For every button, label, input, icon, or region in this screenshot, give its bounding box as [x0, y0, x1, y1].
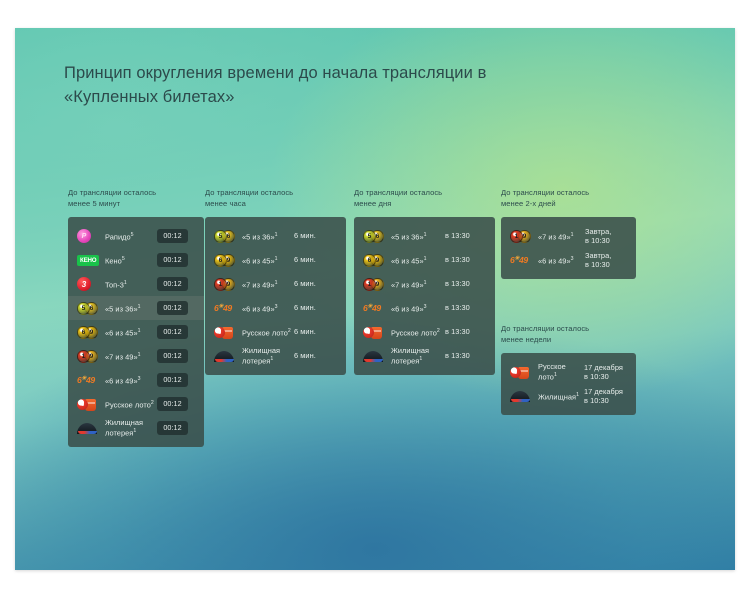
time-value: в 13:30	[445, 303, 486, 313]
footnote-marker: 1	[138, 328, 141, 334]
top3-glyph: 3	[77, 277, 91, 291]
footnote-marker: 1	[275, 232, 278, 238]
table-row[interactable]: Жилищная лотерея1в 13:30	[354, 344, 495, 368]
countdown-badge: 00:12	[157, 421, 188, 436]
table-row[interactable]: КЕНОКено500:12	[68, 248, 204, 272]
lottery-name: Топ-31	[105, 279, 157, 289]
panel-less-2-days: 19«7 из 49»1Завтра, в 10:306✳49«6 из 49»…	[501, 217, 636, 279]
table-row[interactable]: 56«5 из 36»100:12	[68, 296, 204, 320]
lottery-name: «6 из 49»3	[391, 303, 445, 313]
countdown-badge: 00:12	[157, 277, 188, 292]
table-row[interactable]: 19«7 из 49»1Завтра, в 10:30	[501, 224, 636, 248]
lottery-name: Жилищная1	[538, 391, 584, 401]
panel-less-day: 56«5 из 36»1в 13:3069«6 из 45»1в 13:3019…	[354, 217, 495, 375]
countdown-badge: 00:12	[157, 253, 188, 268]
zhilishchnaya-glyph	[510, 390, 531, 403]
lottery-name: «6 из 45»1	[242, 255, 294, 265]
countdown-badge: 00:12	[157, 397, 188, 412]
footnote-marker: 1	[275, 256, 278, 262]
lottery-name: Русское лото1	[538, 362, 584, 381]
balls-7-49-icon: 19	[77, 348, 98, 364]
footnote-marker: 3	[571, 256, 574, 262]
lottery-ball: 5	[77, 302, 90, 315]
zhilishchnaya-icon	[363, 348, 384, 364]
lottery-name: «5 из 36»1	[105, 303, 157, 313]
russkoe-loto-icon: 6	[363, 324, 384, 340]
lottery-name: «6 из 49»3	[538, 255, 585, 265]
balls-6-45-icon: 69	[214, 252, 235, 268]
countdown-badge: 00:12	[157, 373, 188, 388]
logo-6-49-glyph: 6✳49	[214, 303, 232, 313]
table-row[interactable]: 6Русское лото26 мин.	[205, 320, 346, 344]
footnote-marker: 5	[122, 256, 125, 262]
logo-6-49-glyph: 6✳49	[363, 303, 381, 313]
lottery-name: Русское лото2	[105, 399, 157, 409]
lottery-ball: 1	[77, 350, 90, 363]
footnote-marker: 3	[424, 304, 427, 310]
table-row[interactable]: 6Русское лото2в 13:30	[354, 320, 495, 344]
logo-6-49-icon: 6✳49	[214, 300, 235, 316]
lottery-name: Кено5	[105, 255, 157, 265]
footnote-marker: 1	[275, 280, 278, 286]
russkoe-loto-glyph: 6	[510, 365, 531, 380]
balls-6-45-icon: 69	[77, 324, 98, 340]
time-value: Завтра, в 10:30	[585, 227, 627, 246]
russkoe-loto-glyph: 6	[363, 325, 384, 340]
table-row[interactable]: 6Русское лото117 декабря в 10:30	[501, 360, 636, 384]
countdown-badge: 00:12	[157, 349, 188, 364]
table-row[interactable]: 6✳49«6 из 49»3в 13:30	[354, 296, 495, 320]
lottery-name: «5 из 36»1	[242, 231, 294, 241]
lottery-name: «5 из 36»1	[391, 231, 445, 241]
table-row[interactable]: Жилищная117 декабря в 10:30	[501, 384, 636, 408]
zhilishchnaya-glyph	[77, 422, 98, 435]
footnote-marker: 2	[151, 400, 154, 406]
balls-5-36-icon: 56	[77, 300, 98, 316]
presentation-slide: Принцип округления времени до начала тра…	[15, 28, 735, 570]
time-value: 17 декабря в 10:30	[584, 363, 627, 382]
table-row[interactable]: 6✳49«6 из 49»300:12	[68, 368, 204, 392]
lottery-ball: 5	[214, 230, 227, 243]
lottery-name: «6 из 49»3	[242, 303, 294, 313]
top3-icon: 3	[77, 276, 98, 292]
table-row[interactable]: 6Русское лото200:12	[68, 392, 204, 416]
lottery-ball: 1	[363, 278, 376, 291]
lottery-name: «6 из 45»1	[105, 327, 157, 337]
time-value: 6 мин.	[294, 279, 337, 289]
time-value: 6 мин.	[294, 303, 337, 313]
russkoe-loto-icon: 6	[510, 364, 531, 380]
zhilishchnaya-icon	[77, 420, 98, 436]
logo-6-49-icon: 6✳49	[510, 252, 531, 268]
time-value: в 13:30	[445, 279, 486, 289]
lottery-ball: 5	[363, 230, 376, 243]
lottery-ball: 6	[77, 326, 90, 339]
lottery-name: «6 из 49»3	[105, 375, 157, 385]
time-value: Завтра, в 10:30	[585, 251, 627, 270]
time-value: в 13:30	[445, 255, 486, 265]
table-row[interactable]: 3Топ-3100:12	[68, 272, 204, 296]
time-value: 6 мин.	[294, 351, 337, 361]
zhilishchnaya-glyph	[363, 350, 384, 363]
footnote-marker: 1	[138, 352, 141, 358]
group-less-5-min: До трансляции осталось менее 5 минутРРап…	[68, 188, 204, 447]
logo-6-49-glyph: 6✳49	[510, 255, 528, 265]
time-value: в 13:30	[445, 327, 486, 337]
lottery-name: Русское лото2	[391, 327, 445, 337]
panel-less-5-min: РРапидо500:12КЕНОКено500:123Топ-3100:125…	[68, 217, 204, 447]
lottery-name: Рапидо5	[105, 231, 157, 241]
table-row[interactable]: РРапидо500:12	[68, 224, 204, 248]
lottery-ball: 1	[510, 230, 523, 243]
footnote-marker: 3	[275, 304, 278, 310]
lottery-name: «7 из 49»1	[538, 231, 585, 241]
footnote-marker: 1	[419, 356, 422, 362]
lottery-name: «7 из 49»1	[105, 351, 157, 361]
time-value: 00:12	[157, 421, 195, 436]
table-row[interactable]: 6✳49«6 из 49»3Завтра, в 10:30	[501, 248, 636, 272]
time-value: 00:12	[157, 277, 195, 292]
russkoe-loto-icon: 6	[214, 324, 235, 340]
group-less-day: До трансляции осталось менее дня56«5 из …	[354, 188, 495, 375]
lottery-name: Русское лото2	[242, 327, 294, 337]
time-value: 00:12	[157, 253, 195, 268]
table-row[interactable]: 56«5 из 36»16 мин.	[205, 224, 346, 248]
time-value: 00:12	[157, 325, 195, 340]
time-value: в 13:30	[445, 231, 486, 241]
table-row[interactable]: 19«7 из 49»1в 13:30	[354, 272, 495, 296]
footnote-marker: 1	[571, 232, 574, 238]
countdown-badge: 00:12	[157, 229, 188, 244]
time-value: в 13:30	[445, 351, 486, 361]
time-value: 17 декабря в 10:30	[584, 387, 627, 406]
time-value: 00:12	[157, 373, 195, 388]
balls-7-49-icon: 19	[510, 228, 531, 244]
group-less-week: До трансляции осталось менее недели6Русс…	[501, 324, 636, 415]
group-header-less-week: До трансляции осталось менее недели	[501, 324, 636, 345]
zhilishchnaya-icon	[510, 388, 531, 404]
panel-less-week: 6Русское лото117 декабря в 10:30Жилищная…	[501, 353, 636, 415]
lottery-ball: 6	[363, 254, 376, 267]
balls-7-49-icon: 19	[363, 276, 384, 292]
table-row[interactable]: Жилищная лотерея100:12	[68, 416, 204, 440]
balls-5-36-icon: 56	[214, 228, 235, 244]
footnote-marker: 1	[424, 280, 427, 286]
balls-7-49-icon: 19	[214, 276, 235, 292]
group-header-less-hour: До трансляции осталось менее часа	[205, 188, 346, 209]
table-row[interactable]: 19«7 из 49»100:12	[68, 344, 204, 368]
table-row[interactable]: 69«6 из 45»1в 13:30	[354, 248, 495, 272]
table-row[interactable]: 69«6 из 45»16 мин.	[205, 248, 346, 272]
group-less-2-days: До трансляции осталось менее 2-х дней19«…	[501, 188, 636, 279]
table-row[interactable]: 19«7 из 49»16 мин.	[205, 272, 346, 296]
russkoe-loto-icon: 6	[77, 396, 98, 412]
group-header-less-2-days: До трансляции осталось менее 2-х дней	[501, 188, 636, 209]
group-header-less-day: До трансляции осталось менее дня	[354, 188, 495, 209]
footnote-marker: 3	[138, 376, 141, 382]
keno-glyph: КЕНО	[77, 255, 99, 266]
time-value: 00:12	[157, 301, 195, 316]
logo-6-49-glyph: 6✳49	[77, 375, 95, 385]
logo-6-49-icon: 6✳49	[363, 300, 384, 316]
footnote-marker: 5	[131, 232, 134, 238]
countdown-badge: 00:12	[157, 325, 188, 340]
time-value: 6 мин.	[294, 327, 337, 337]
time-value: 00:12	[157, 397, 195, 412]
balls-6-45-icon: 69	[363, 252, 384, 268]
logo-6-49-icon: 6✳49	[77, 372, 98, 388]
page-title: Принцип округления времени до начала тра…	[64, 61, 544, 109]
footnote-marker: 1	[138, 304, 141, 310]
rapido-icon: Р	[77, 228, 98, 244]
footnote-marker: 1	[124, 280, 127, 286]
rapido-glyph: Р	[77, 229, 91, 243]
group-header-less-5-min: До трансляции осталось менее 5 минут	[68, 188, 204, 209]
lottery-name: Жилищная лотерея1	[242, 346, 294, 365]
russkoe-loto-glyph: 6	[214, 325, 235, 340]
lottery-ball: 1	[214, 278, 227, 291]
table-row[interactable]: 69«6 из 45»100:12	[68, 320, 204, 344]
table-row[interactable]: Жилищная лотерея16 мин.	[205, 344, 346, 368]
table-row[interactable]: 56«5 из 36»1в 13:30	[354, 224, 495, 248]
footnote-marker: 2	[437, 328, 440, 334]
panel-less-hour: 56«5 из 36»16 мин.69«6 из 45»16 мин.19«7…	[205, 217, 346, 375]
zhilishchnaya-glyph	[214, 350, 235, 363]
footnote-marker: 1	[133, 428, 136, 434]
lottery-name: Жилищная лотерея1	[105, 418, 157, 437]
group-less-hour: До трансляции осталось менее часа56«5 из…	[205, 188, 346, 375]
time-value: 00:12	[157, 229, 195, 244]
lottery-name: «7 из 49»1	[242, 279, 294, 289]
lottery-name: «7 из 49»1	[391, 279, 445, 289]
lottery-ball: 6	[214, 254, 227, 267]
time-value: 6 мин.	[294, 255, 337, 265]
time-value: 00:12	[157, 349, 195, 364]
footnote-marker: 1	[424, 232, 427, 238]
footnote-marker: 1	[576, 392, 579, 398]
keno-icon: КЕНО	[77, 252, 98, 268]
table-row[interactable]: 6✳49«6 из 49»36 мин.	[205, 296, 346, 320]
footnote-marker: 1	[270, 356, 273, 362]
countdown-badge: 00:12	[157, 301, 188, 316]
footnote-marker: 1	[554, 372, 557, 378]
time-value: 6 мин.	[294, 231, 337, 241]
balls-5-36-icon: 56	[363, 228, 384, 244]
lottery-name: Жилищная лотерея1	[391, 346, 445, 365]
footnote-marker: 1	[424, 256, 427, 262]
zhilishchnaya-icon	[214, 348, 235, 364]
russkoe-loto-glyph: 6	[77, 397, 98, 412]
screenshot-root: Принцип округления времени до начала тра…	[0, 0, 750, 600]
lottery-name: «6 из 45»1	[391, 255, 445, 265]
footnote-marker: 2	[288, 328, 291, 334]
